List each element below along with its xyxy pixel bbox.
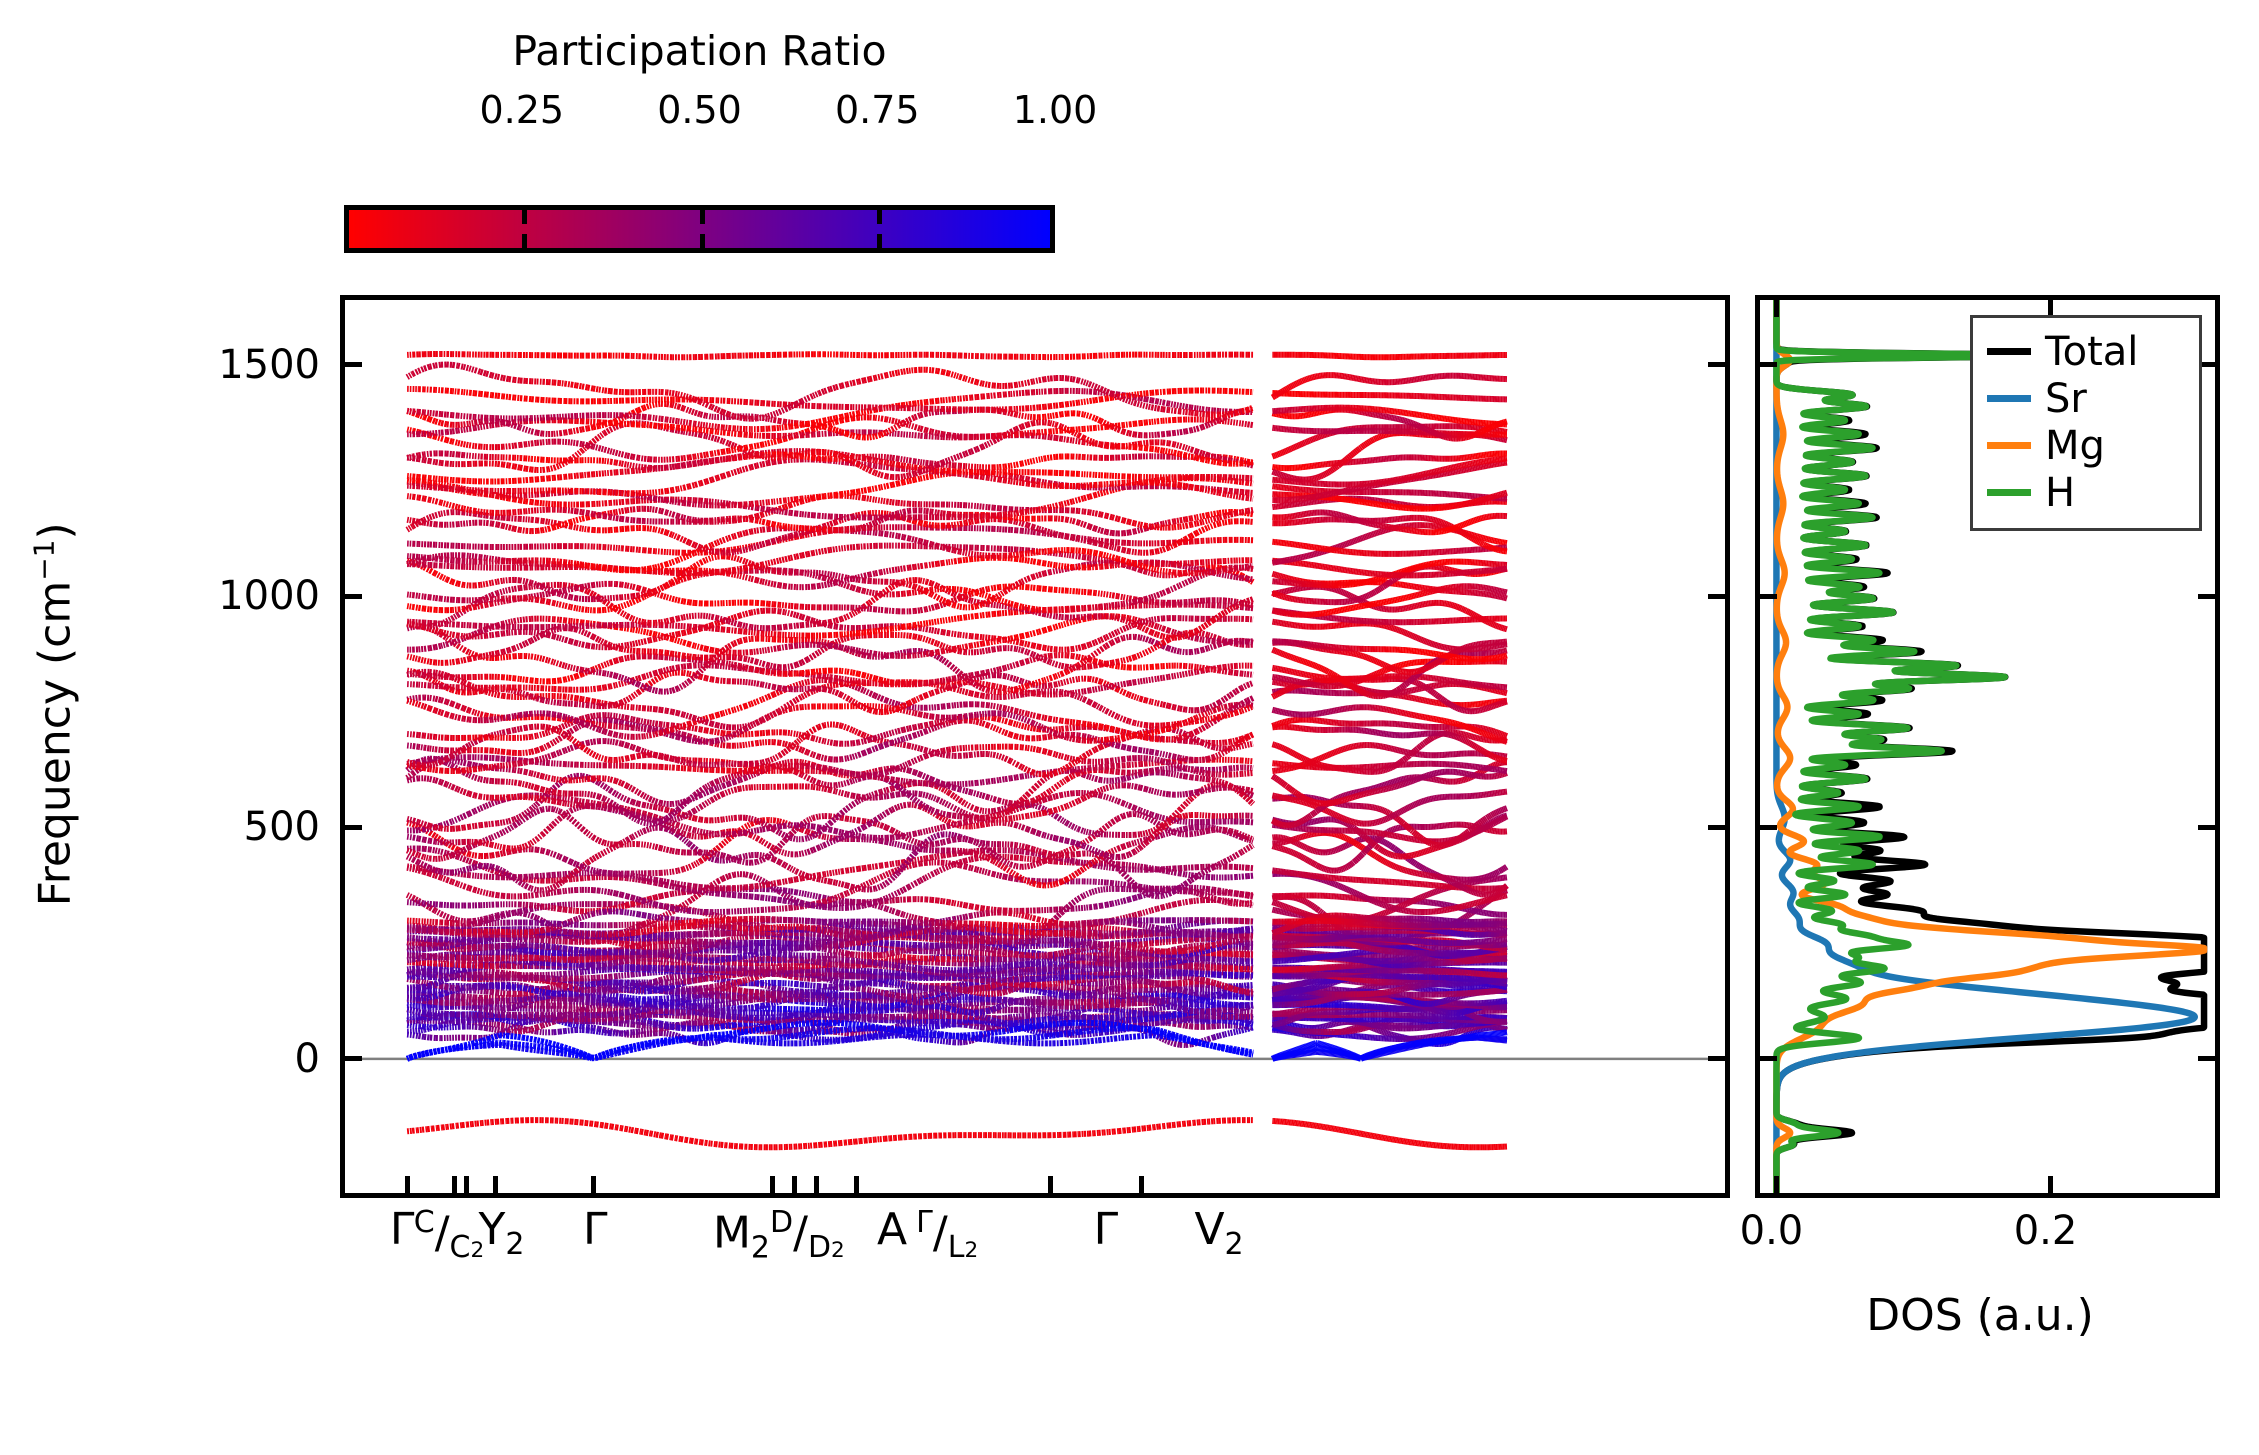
- path-tick-mark: [405, 1176, 410, 1193]
- frequency-tick-mark: [1760, 825, 1777, 830]
- frequency-tick-mark: [1760, 1056, 1777, 1061]
- dos-tick-mark: [1774, 300, 1779, 317]
- frequency-tick-mark: [345, 594, 362, 599]
- high-symmetry-point-label: C/C2: [414, 1208, 484, 1263]
- path-tick-mark: [464, 1176, 469, 1193]
- high-symmetry-point-label: Y2: [478, 1208, 524, 1260]
- colorbar-tick-mark: [877, 234, 882, 248]
- frequency-tick-mark: [1708, 362, 1725, 367]
- colorbar-tick-mark: [522, 234, 527, 248]
- frequency-tick-mark: [2198, 825, 2215, 830]
- colorbar-tick-label: 0.25: [479, 88, 564, 132]
- legend-item: H: [1973, 469, 2199, 516]
- dos-axis-tick-labels: 0.00.2: [1755, 1208, 2220, 1268]
- legend-label: Total: [2045, 332, 2138, 372]
- band-structure-curves: [345, 300, 1725, 1193]
- dos-tick-label: 0.0: [1740, 1208, 1804, 1254]
- colorbar-tick-mark: [700, 234, 705, 248]
- high-symmetry-point-label: V2: [1194, 1208, 1243, 1260]
- dos-legend: TotalSrMgH: [1970, 315, 2202, 531]
- colorbar-tick-label: 1.00: [1013, 88, 1098, 132]
- high-symmetry-point-label: A: [877, 1208, 907, 1252]
- colorbar-title: Participation Ratio: [344, 30, 1055, 73]
- frequency-tick-mark: [345, 825, 362, 830]
- path-tick-mark: [493, 1176, 498, 1193]
- frequency-tick-mark: [1760, 594, 1777, 599]
- frequency-tick-mark: [2198, 594, 2215, 599]
- path-tick-mark: [591, 1176, 596, 1193]
- band-plot-area: [345, 300, 1725, 1193]
- path-tick-mark: [1048, 1176, 1053, 1193]
- colorbar-tick-mark: [877, 210, 882, 224]
- frequency-tick-mark: [345, 1056, 362, 1061]
- dos-axis-title: DOS (a.u.): [1700, 1290, 2259, 1341]
- dos-tick-label: 0.2: [2014, 1208, 2078, 1254]
- colorbar-tick-label: 0.75: [835, 88, 920, 132]
- frequency-tick-mark: [1708, 825, 1725, 830]
- frequency-tick-label: 500: [244, 804, 320, 850]
- path-tick-mark: [792, 1176, 797, 1193]
- legend-label: Sr: [2045, 379, 2087, 419]
- frequency-tick-mark: [1708, 1056, 1725, 1061]
- high-symmetry-point-label: Γ: [583, 1208, 608, 1252]
- frequency-tick-label: 1500: [218, 342, 320, 388]
- phonon-band-structure-panel: [340, 295, 1730, 1198]
- colorbar-tick-label: 0.50: [657, 88, 742, 132]
- participation-ratio-colorbar: [344, 205, 1055, 253]
- legend-item: Total: [1973, 328, 2199, 375]
- legend-label: Mg: [2045, 426, 2105, 466]
- frequency-tick-label: 1000: [218, 573, 320, 619]
- colorbar-tick-mark: [700, 210, 705, 224]
- path-tick-mark: [452, 1176, 457, 1193]
- legend-color-swatch: [1987, 348, 2031, 355]
- path-tick-mark: [854, 1176, 859, 1193]
- colorbar-tick-labels: 0.250.500.751.00: [344, 88, 1055, 128]
- path-tick-mark: [770, 1176, 775, 1193]
- frequency-tick-label: 0: [295, 1036, 320, 1082]
- path-tick-mark: [1139, 1176, 1144, 1193]
- frequency-tick-mark: [1760, 362, 1777, 367]
- high-symmetry-point-labels: ΓC/C2Y2ΓM2D/D2AΓ/L2ΓV2: [340, 1208, 1730, 1318]
- path-tick-mark: [814, 1176, 819, 1193]
- legend-color-swatch: [1987, 395, 2031, 402]
- legend-item: Mg: [1973, 422, 2199, 469]
- high-symmetry-point-label: Γ/L2: [916, 1208, 978, 1263]
- high-symmetry-point-label: Γ: [390, 1208, 415, 1252]
- dos-tick-mark: [2048, 1176, 2053, 1193]
- frequency-axis-title: Frequency (cm−1): [28, 264, 81, 1164]
- legend-item: Sr: [1973, 375, 2199, 422]
- frequency-tick-mark: [345, 362, 362, 367]
- high-symmetry-point-label: M2D/D2: [713, 1208, 845, 1263]
- legend-label: H: [2045, 473, 2075, 513]
- frequency-tick-mark: [1708, 594, 1725, 599]
- legend-color-swatch: [1987, 442, 2031, 449]
- high-symmetry-point-label: Γ: [1094, 1208, 1119, 1252]
- dos-tick-mark: [1774, 1176, 1779, 1193]
- legend-color-swatch: [1987, 489, 2031, 496]
- frequency-tick-mark: [2198, 1056, 2215, 1061]
- colorbar-tick-mark: [522, 210, 527, 224]
